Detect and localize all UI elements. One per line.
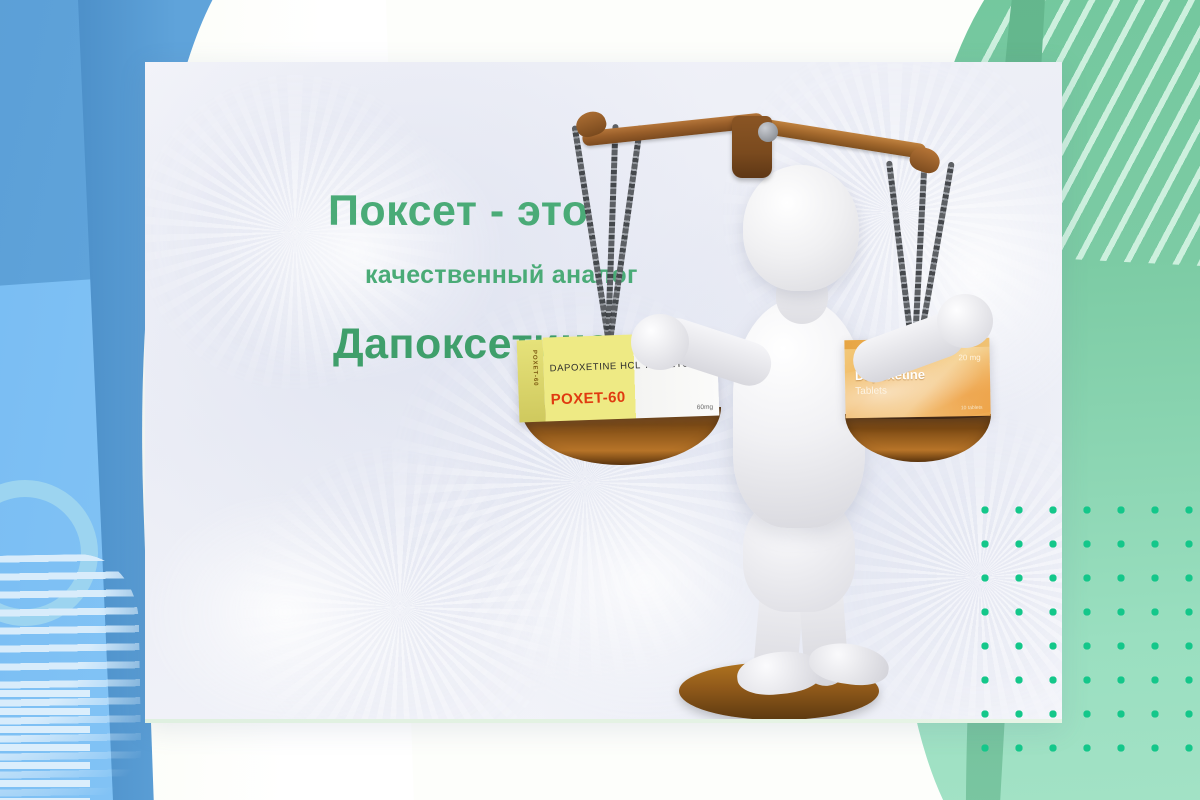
product-box-right-code: 10 tablets bbox=[961, 405, 983, 411]
product-box-right-dose: 20 mg bbox=[958, 353, 980, 362]
product-box-left-name: POXET-60 bbox=[550, 389, 625, 409]
product-box-right-subtitle: Tablets bbox=[855, 386, 887, 398]
figure-fist-left bbox=[631, 314, 689, 370]
poster-canvas: Поксет - это качественный аналог Дапоксе… bbox=[0, 0, 1200, 800]
dot-grid-decor bbox=[962, 487, 1200, 777]
horizontal-stripes-decor-2 bbox=[0, 690, 90, 800]
card-bottom-edge bbox=[145, 719, 1062, 723]
product-box-left-dose: 60mg bbox=[697, 404, 714, 412]
figure-fist-right bbox=[937, 294, 993, 348]
beam-pivot-knob bbox=[758, 122, 778, 142]
photo-card: Поксет - это качественный аналог Дапоксе… bbox=[145, 62, 1062, 723]
product-box-left-side: POXET-60 bbox=[517, 340, 546, 423]
scale-beam bbox=[582, 104, 922, 130]
figure-head bbox=[743, 165, 859, 291]
scale-pan-right bbox=[845, 414, 991, 462]
product-box-left-side-text: POXET-60 bbox=[523, 350, 539, 416]
balance-scale-illustration: POXET-60 DAPOXETINE HCL TABLETS POXET-60… bbox=[145, 62, 1062, 723]
